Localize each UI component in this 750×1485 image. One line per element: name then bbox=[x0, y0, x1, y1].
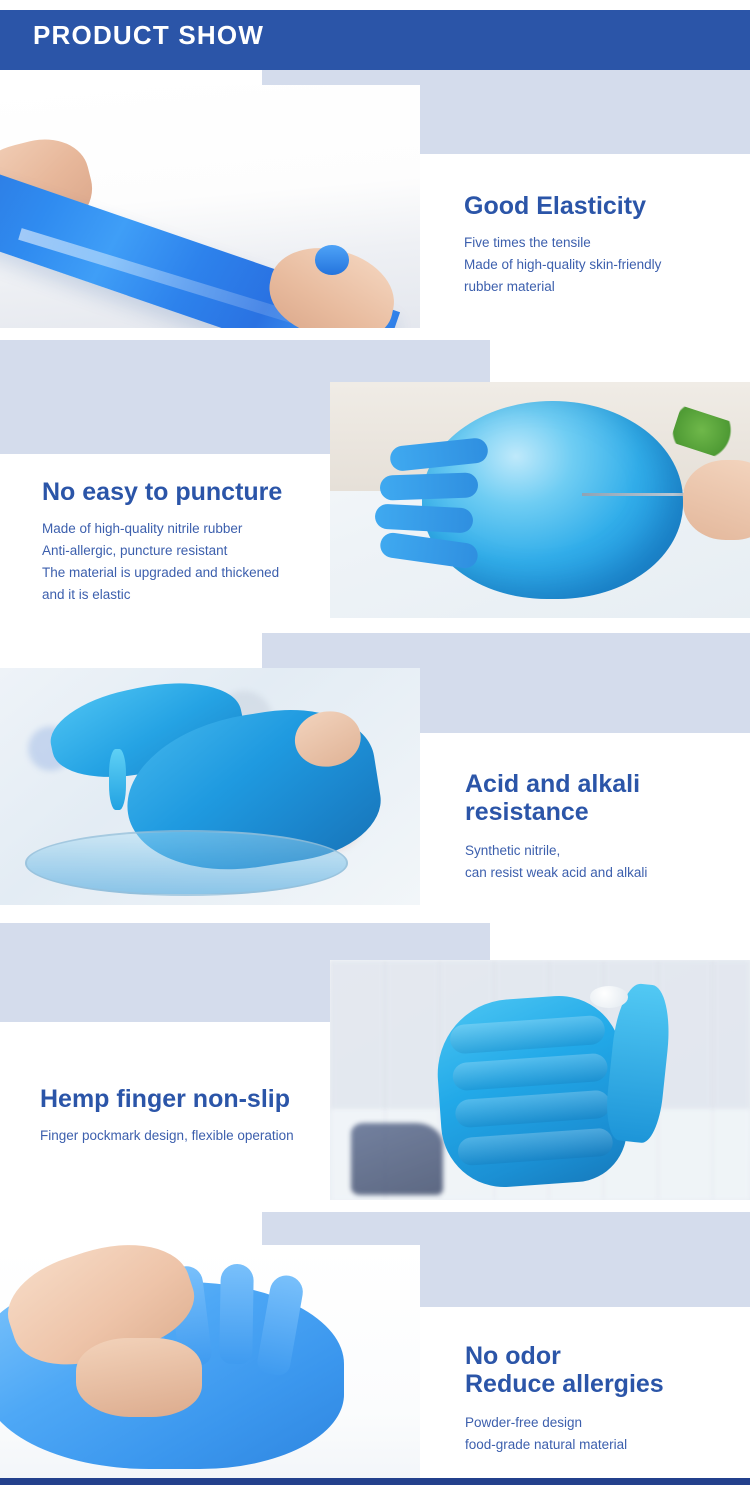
feature-2-heading: No easy to puncture bbox=[42, 478, 342, 506]
feature-3-liquid-drip bbox=[109, 749, 126, 811]
feature-1-body: Five times the tensile Made of high-qual… bbox=[464, 232, 736, 298]
feature-4-microscope bbox=[351, 1123, 443, 1195]
feature-1-thumb-grip bbox=[315, 245, 349, 274]
feature-4-photo bbox=[330, 960, 750, 1200]
feature-4-text: Hemp finger non-slip Finger pockmark des… bbox=[40, 1085, 340, 1147]
feature-1-photo bbox=[0, 85, 420, 328]
feature-5-body: Powder-free design food-grade natural ma… bbox=[465, 1412, 745, 1456]
feature-3-petri-dish bbox=[25, 830, 348, 896]
feature-3-body: Synthetic nitrile, can resist weak acid … bbox=[465, 840, 745, 884]
feature-1-heading: Good Elasticity bbox=[464, 192, 736, 220]
feature-2-body: Made of high-quality nitrile rubber Anti… bbox=[42, 518, 342, 605]
product-show-page: PRODUCT SHOW Good Elasticity Five times … bbox=[0, 0, 750, 1485]
feature-5-text: No odor Reduce allergies Powder-free des… bbox=[465, 1342, 745, 1456]
feature-3-photo bbox=[0, 668, 420, 905]
feature-3-heading: Acid and alkali resistance bbox=[465, 770, 745, 826]
bottom-accent-bar bbox=[0, 1478, 750, 1485]
feature-4-gloved-fist bbox=[433, 992, 630, 1192]
feature-2-glove-fingers bbox=[368, 439, 494, 585]
feature-3-text: Acid and alkali resistance Synthetic nit… bbox=[465, 770, 745, 884]
feature-5-heading: No odor Reduce allergies bbox=[465, 1342, 745, 1398]
feature-1-text: Good Elasticity Five times the tensile M… bbox=[464, 192, 736, 298]
feature-4-body: Finger pockmark design, flexible operati… bbox=[40, 1125, 340, 1147]
page-title: PRODUCT SHOW bbox=[33, 22, 264, 48]
feature-2-text: No easy to puncture Made of high-quality… bbox=[42, 478, 342, 605]
feature-2-photo bbox=[330, 382, 750, 618]
feature-4-heading: Hemp finger non-slip bbox=[40, 1085, 340, 1113]
feature-5-photo bbox=[0, 1245, 420, 1478]
feature-4-pill bbox=[590, 986, 628, 1008]
feature-5-fist bbox=[76, 1338, 202, 1417]
